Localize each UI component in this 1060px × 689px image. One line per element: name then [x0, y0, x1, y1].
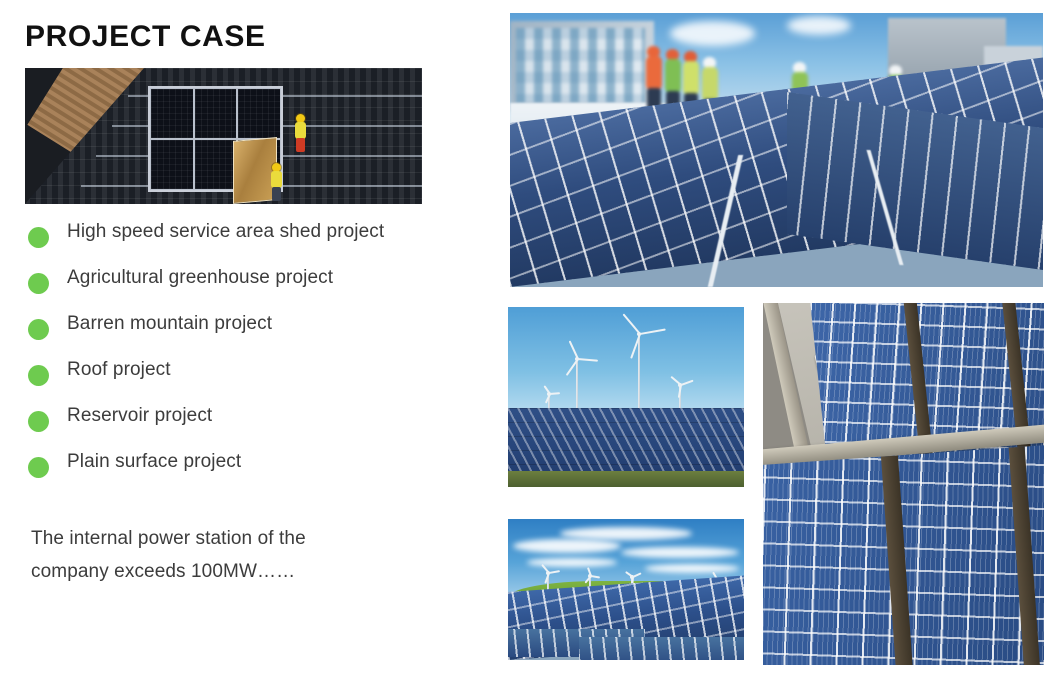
project-list: High speed service area shed project Agr… — [25, 217, 465, 493]
capacity-note-line1: The internal power station of the — [31, 522, 451, 555]
green-dot-icon — [28, 365, 49, 386]
list-item-label: High speed service area shed project — [67, 221, 384, 243]
capacity-note-line2: company exceeds 100MW…… — [31, 555, 451, 588]
list-item[interactable]: Roof project — [25, 355, 465, 401]
list-item-label: Reservoir project — [67, 405, 212, 427]
slide-canvas: PROJECT CASE — [0, 0, 1060, 689]
list-item[interactable]: Barren mountain project — [25, 309, 465, 355]
green-dot-icon — [28, 273, 49, 294]
wind-turbine-mid — [567, 357, 587, 415]
list-item[interactable]: High speed service area shed project — [25, 217, 465, 263]
page-title: PROJECT CASE — [25, 22, 266, 52]
wind-and-solar-farm-photo — [508, 307, 744, 487]
hillside-solar-farm-photo — [508, 519, 744, 660]
rooftop-installation-hero-photo — [510, 13, 1043, 287]
green-dot-icon — [28, 457, 49, 478]
list-item[interactable]: Agricultural greenhouse project — [25, 263, 465, 309]
list-item-label: Barren mountain project — [67, 313, 272, 335]
green-dot-icon — [28, 411, 49, 432]
green-dot-icon — [28, 319, 49, 340]
green-dot-icon — [28, 227, 49, 248]
capacity-note: The internal power station of the compan… — [31, 522, 451, 588]
grass-strip — [508, 471, 744, 487]
list-item-label: Agricultural greenhouse project — [67, 267, 333, 289]
wind-turbine-large — [626, 332, 652, 411]
list-item[interactable]: Plain surface project — [25, 447, 465, 493]
aerial-rooftop-array-photo — [763, 303, 1044, 665]
tilted-panel — [233, 137, 277, 204]
list-item[interactable]: Reservoir project — [25, 401, 465, 447]
glass-building — [510, 21, 654, 111]
list-item-label: Plain surface project — [67, 451, 241, 473]
solar-array-lower — [763, 444, 1044, 665]
roof-installation-photo — [25, 68, 422, 204]
list-item-label: Roof project — [67, 359, 171, 381]
